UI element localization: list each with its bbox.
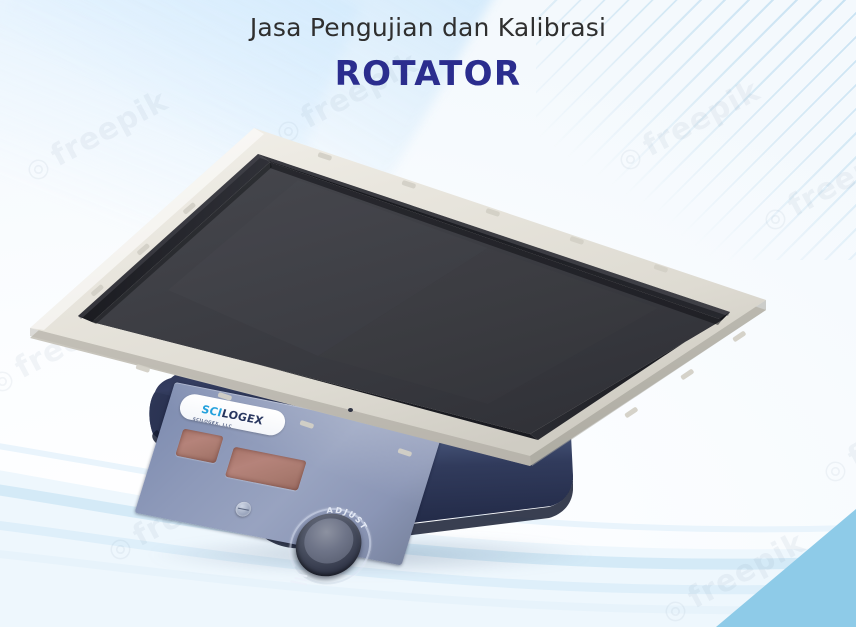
rotator-device: SCILOGEX SCILOGEX, LLC ADJUST [0, 0, 856, 627]
adjust-knob-group[interactable]: ADJUST [270, 486, 393, 597]
base-deck-screw [348, 408, 353, 412]
adjust-knob-cap [298, 514, 359, 568]
shaker-platform [18, 120, 778, 500]
poster-canvas: ◎freepik ◎freepik ◎freepik ◎freepik ◎fre… [0, 0, 856, 627]
knob-tick-marks [289, 573, 315, 591]
power-button[interactable] [234, 501, 253, 518]
